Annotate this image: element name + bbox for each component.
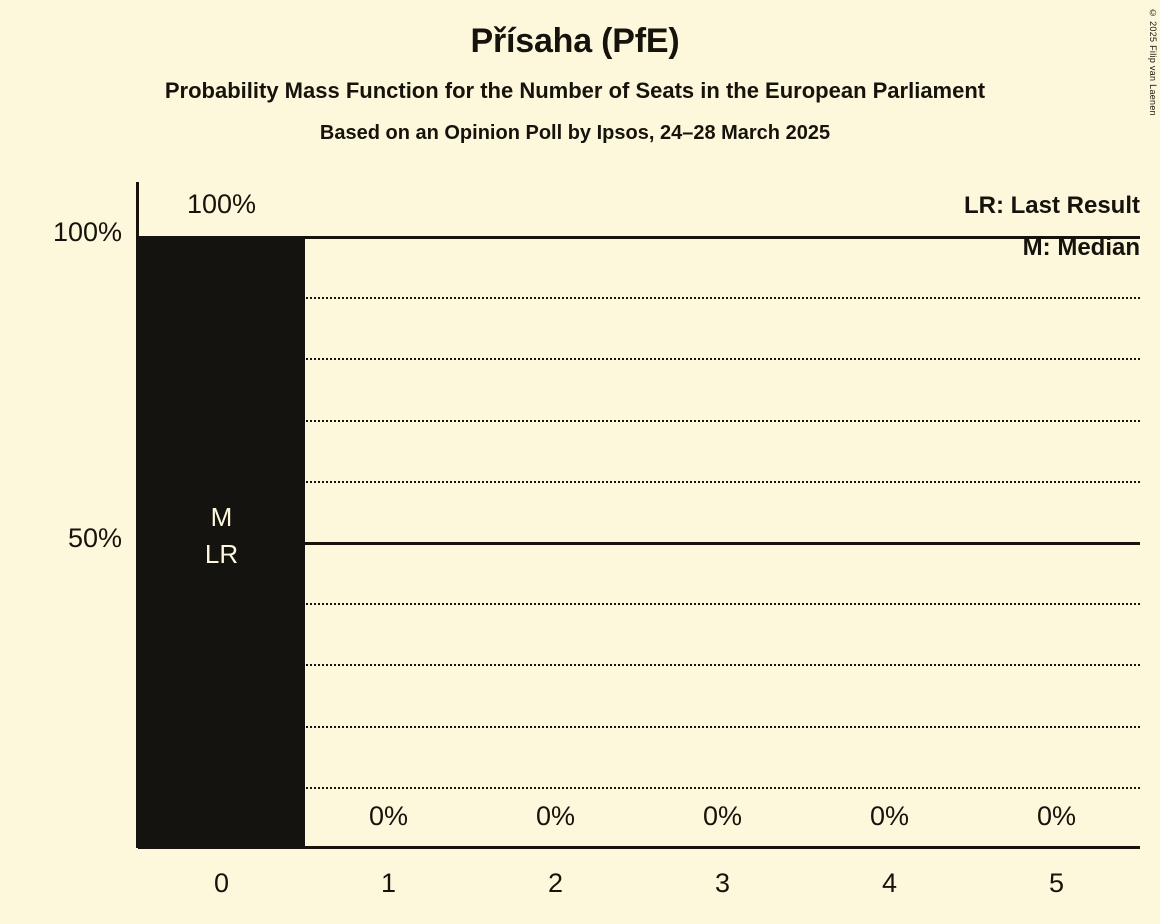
legend-item-last-result: LR: Last Result [964, 192, 1140, 220]
chart-subtitle-primary: Probability Mass Function for the Number… [0, 58, 1150, 102]
x-tick-label: 0 [138, 868, 305, 899]
y-tick-label: 100% [0, 217, 122, 248]
page-title: Přísaha (PfE) [0, 0, 1150, 58]
bar-slot[interactable]: 0% [973, 236, 1140, 848]
pmf-chart: Přísaha (PfE) Probability Mass Function … [0, 0, 1160, 924]
bar-value-label: 0% [806, 801, 973, 832]
bar-marker-labels: MLR [138, 499, 305, 573]
bar-value-label: 100% [138, 189, 305, 220]
chart-subtitle-secondary: Based on an Opinion Poll by Ipsos, 24–28… [0, 102, 1150, 143]
bar-value-label: 0% [472, 801, 639, 832]
x-tick-label: 1 [305, 868, 472, 899]
x-tick-label: 4 [806, 868, 973, 899]
bar-slot[interactable]: 0% [305, 236, 472, 848]
title-block: Přísaha (PfE) Probability Mass Function … [0, 0, 1150, 143]
x-tick-label: 5 [973, 868, 1140, 899]
bar-slot[interactable]: 100%MLR [138, 236, 305, 848]
bar-value-label: 0% [639, 801, 806, 832]
plot-area: 100%MLR0%0%0%0%0% [138, 236, 1140, 848]
marker-m: M [138, 499, 305, 536]
bar-slot[interactable]: 0% [806, 236, 973, 848]
bar-value-label: 0% [305, 801, 472, 832]
bar-slot[interactable]: 0% [472, 236, 639, 848]
x-tick-label: 2 [472, 868, 639, 899]
copyright-notice: © 2025 Filip van Laenen [1148, 8, 1158, 116]
x-tick-label: 3 [639, 868, 806, 899]
y-tick-label: 50% [0, 523, 122, 554]
marker-lr: LR [138, 536, 305, 573]
bar-slot[interactable]: 0% [639, 236, 806, 848]
bar-value-label: 0% [973, 801, 1140, 832]
